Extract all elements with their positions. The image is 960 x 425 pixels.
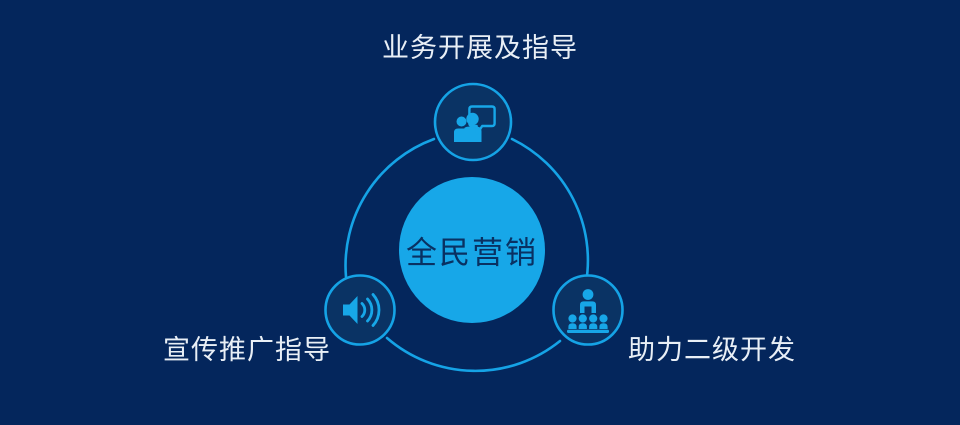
node-bottom-left-circle[interactable] — [326, 276, 395, 345]
slide-canvas: 全民营销 业务开展及指导 宣传推广指导 助力二级开发 — [0, 0, 960, 425]
center-label: 全民营销 — [406, 228, 538, 273]
arc-right-to-left — [387, 338, 560, 371]
node-top[interactable] — [435, 84, 511, 160]
node-label-bottom-right: 助力二级开发 — [628, 337, 796, 364]
node-bottom-right[interactable] — [554, 276, 623, 345]
node-bottom-left[interactable] — [326, 276, 395, 345]
node-label-top: 业务开展及指导 — [382, 35, 578, 62]
node-bottom-right-circle[interactable] — [554, 276, 623, 345]
node-label-bottom-left: 宣传推广指导 — [163, 337, 331, 364]
